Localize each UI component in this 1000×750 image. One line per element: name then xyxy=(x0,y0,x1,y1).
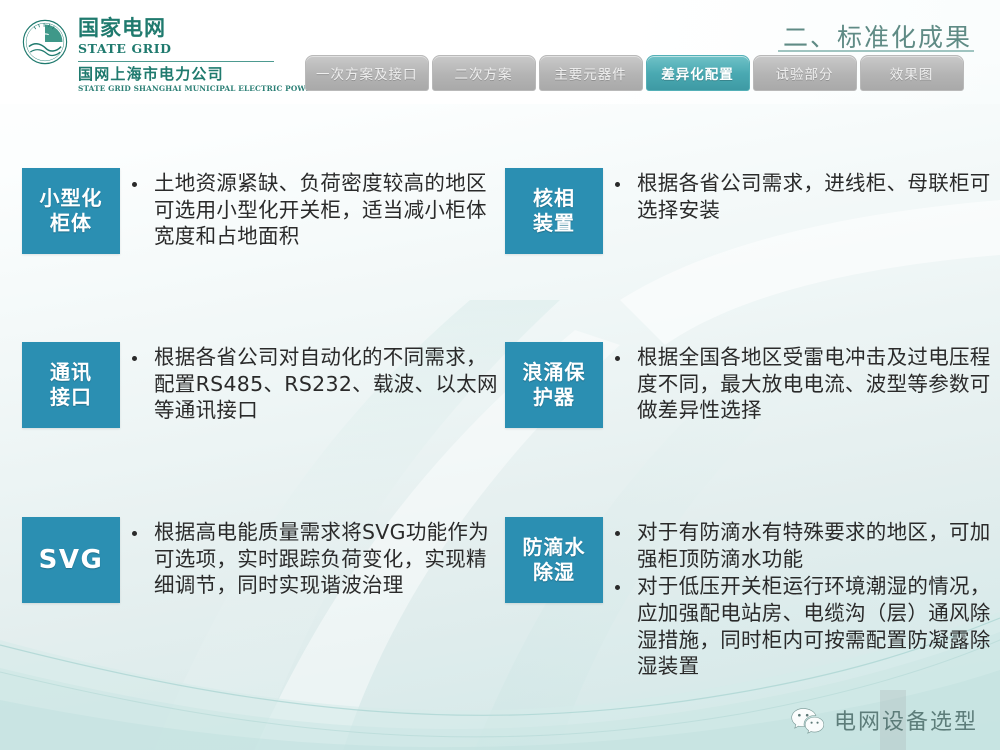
bullet-item: 根据各省公司需求，进线柜、母联柜可选择安装 xyxy=(613,170,995,223)
item-dripproof-dehumidify: 防滴水 除湿 对于有防滴水有特殊要求的地区，可加强柜顶防滴水功能 对于低压开关柜… xyxy=(505,517,995,680)
bullet-text: 根据全国各地区受雷电冲击及过电压程度不同，最大放电电流、波型等参数可做差异性选择 xyxy=(637,344,995,424)
badge-line-2: 除湿 xyxy=(523,560,586,585)
item-communication-interface: 通讯 接口 根据各省公司对自动化的不同需求，配置RS485、RS232、载波、以… xyxy=(22,342,506,428)
tab-main-components[interactable]: 主要元器件 xyxy=(539,55,643,91)
bullet-item: 根据高电能质量需求将SVG功能作为可选项，实时跟踪负荷变化，实现精细调节，同时实… xyxy=(130,519,506,599)
bullet-dot-icon xyxy=(615,182,620,187)
badge-line-1: 核相 xyxy=(533,186,575,211)
bullet-dot-icon xyxy=(615,531,620,536)
bullet-text: 根据各省公司需求，进线柜、母联柜可选择安装 xyxy=(637,170,995,223)
badge-line-2: 柜体 xyxy=(40,211,103,236)
bullet-list: 根据高电能质量需求将SVG功能作为可选项，实时跟踪负荷变化，实现精细调节，同时实… xyxy=(130,517,506,599)
state-grid-globe-icon xyxy=(22,19,68,65)
bullet-list: 根据全国各地区受雷电冲击及过电压程度不同，最大放电电流、波型等参数可做差异性选择 xyxy=(613,342,995,424)
bullet-dot-icon xyxy=(132,182,137,187)
bullet-list: 根据各省公司对自动化的不同需求，配置RS485、RS232、载波、以太网等通讯接… xyxy=(130,342,506,424)
badge-line-2: 接口 xyxy=(50,385,92,410)
badge-line-2: 装置 xyxy=(533,211,575,236)
badge-line-1: 小型化 xyxy=(40,186,103,211)
bullet-text: 对于低压开关柜运行环境潮湿的情况，应加强配电站房、电缆沟（层）通风除湿措施，同时… xyxy=(637,573,995,680)
bullet-item: 根据全国各地区受雷电冲击及过电压程度不同，最大放电电流、波型等参数可做差异性选择 xyxy=(613,344,995,424)
bullet-dot-icon xyxy=(132,531,137,536)
item-compact-cabinet: 小型化 柜体 土地资源紧缺、负荷密度较高的地区可选用小型化开关柜，适当减小柜体宽… xyxy=(22,168,506,254)
bullet-dot-icon xyxy=(615,585,620,590)
wechat-icon xyxy=(790,706,824,734)
badge-line-1: 浪涌保 xyxy=(523,360,586,385)
badge-line-1: 通讯 xyxy=(50,360,92,385)
badge-surge-protector: 浪涌保 护器 xyxy=(505,342,603,428)
badge-phase-check-device: 核相 装置 xyxy=(505,168,603,254)
bullet-item: 根据各省公司对自动化的不同需求，配置RS485、RS232、载波、以太网等通讯接… xyxy=(130,344,506,424)
page-title: 二、标准化成果 xyxy=(783,18,972,54)
bullet-dot-icon xyxy=(132,356,137,361)
tab-test-section[interactable]: 试验部分 xyxy=(753,55,857,91)
page-title-underline xyxy=(778,50,974,52)
tab-rendering[interactable]: 效果图 xyxy=(860,55,964,91)
bullet-text: 根据高电能质量需求将SVG功能作为可选项，实时跟踪负荷变化，实现精细调节，同时实… xyxy=(154,519,506,599)
bullet-item: 土地资源紧缺、负荷密度较高的地区可选用小型化开关柜，适当减小柜体宽度和占地面积 xyxy=(130,170,506,250)
badge-compact-cabinet: 小型化 柜体 xyxy=(22,168,120,254)
bullet-text: 根据各省公司对自动化的不同需求，配置RS485、RS232、载波、以太网等通讯接… xyxy=(154,344,506,424)
header-bar: 国家电网 STATE GRID 国网上海市电力公司 STATE GRID SHA… xyxy=(0,0,1000,104)
slide-root: 国家电网 STATE GRID 国网上海市电力公司 STATE GRID SHA… xyxy=(0,0,1000,750)
bullet-item: 对于有防滴水有特殊要求的地区，可加强柜顶防滴水功能 xyxy=(613,519,995,572)
bullet-item: 对于低压开关柜运行环境潮湿的情况，应加强配电站房、电缆沟（层）通风除湿措施，同时… xyxy=(613,573,995,680)
footer-watermark: 电网设备选型 xyxy=(790,704,978,736)
logo-company-en: STATE GRID xyxy=(78,41,359,56)
tab-secondary-scheme[interactable]: 二次方案 xyxy=(432,55,536,91)
content-area: 小型化 柜体 土地资源紧缺、负荷密度较高的地区可选用小型化开关柜，适当减小柜体宽… xyxy=(0,110,1000,670)
bullet-text: 土地资源紧缺、负荷密度较高的地区可选用小型化开关柜，适当减小柜体宽度和占地面积 xyxy=(154,170,506,250)
bullet-dot-icon xyxy=(615,356,620,361)
badge-line-1: 防滴水 xyxy=(523,535,586,560)
bullet-list: 土地资源紧缺、负荷密度较高的地区可选用小型化开关柜，适当减小柜体宽度和占地面积 xyxy=(130,168,506,250)
badge-communication-interface: 通讯 接口 xyxy=(22,342,120,428)
bullet-list: 对于有防滴水有特殊要求的地区，可加强柜顶防滴水功能 对于低压开关柜运行环境潮湿的… xyxy=(613,517,995,680)
badge-svg: SVG xyxy=(22,517,120,603)
tab-differentiated-config[interactable]: 差异化配置 xyxy=(646,55,750,91)
footer-watermark-text: 电网设备选型 xyxy=(834,704,978,736)
item-surge-protector: 浪涌保 护器 根据全国各地区受雷电冲击及过电压程度不同，最大放电电流、波型等参数… xyxy=(505,342,995,428)
section-tabs[interactable]: 一次方案及接口 二次方案 主要元器件 差异化配置 试验部分 效果图 xyxy=(305,55,964,91)
logo-divider xyxy=(78,61,274,62)
bullet-text: 对于有防滴水有特殊要求的地区，可加强柜顶防滴水功能 xyxy=(637,519,995,572)
item-phase-check-device: 核相 装置 根据各省公司需求，进线柜、母联柜可选择安装 xyxy=(505,168,995,254)
badge-dripproof-dehumidify: 防滴水 除湿 xyxy=(505,517,603,603)
badge-line-2: 护器 xyxy=(523,385,586,410)
bullet-list: 根据各省公司需求，进线柜、母联柜可选择安装 xyxy=(613,168,995,223)
tab-primary-scheme-interface[interactable]: 一次方案及接口 xyxy=(305,55,429,91)
logo-company-cn: 国家电网 xyxy=(78,17,359,41)
badge-line-1: SVG xyxy=(39,544,104,577)
item-svg: SVG 根据高电能质量需求将SVG功能作为可选项，实时跟踪负荷变化，实现精细调节… xyxy=(22,517,506,603)
